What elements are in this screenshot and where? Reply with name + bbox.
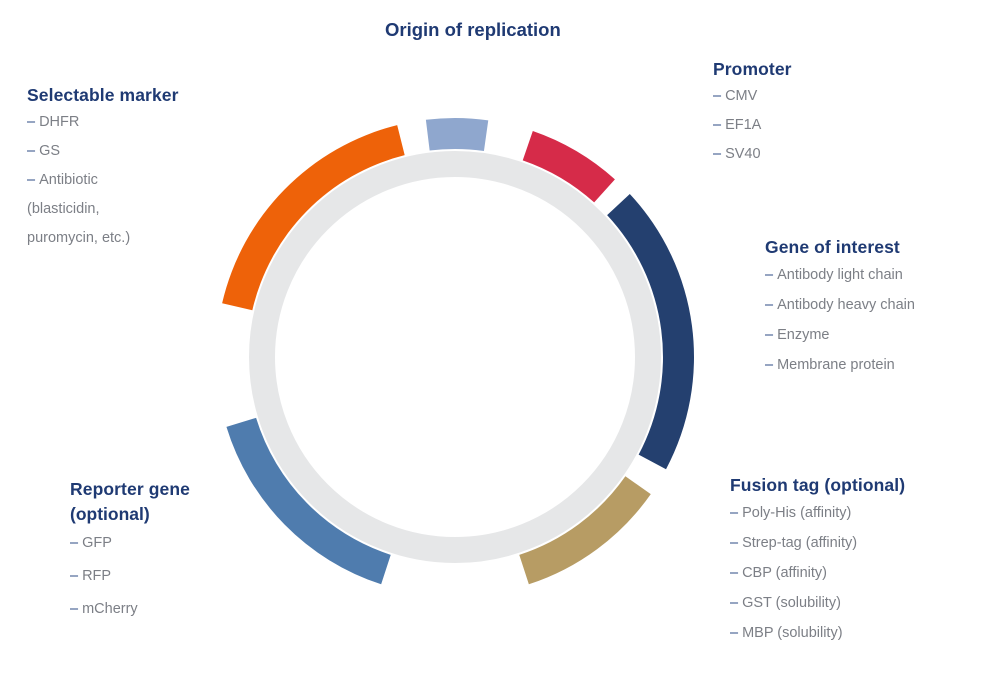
list-item-label: MBP (solubility) xyxy=(742,625,842,641)
gene-of-interest-heading: Gene of interest xyxy=(765,235,915,260)
reporter-gene-block: Reporter gene (optional) –GFP –RFP –mChe… xyxy=(70,477,190,626)
dash-icon: – xyxy=(27,172,35,188)
list-item: –Antibody light chain xyxy=(765,260,915,290)
list-item-label: (blasticidin, xyxy=(27,201,100,217)
dash-icon: – xyxy=(765,357,773,373)
dash-icon: – xyxy=(27,143,35,159)
list-item: –Poly-His (affinity) xyxy=(730,498,905,528)
dash-icon: – xyxy=(730,595,738,611)
list-item: –GFP xyxy=(70,527,190,560)
list-item: –Antibody heavy chain xyxy=(765,290,915,320)
dash-icon: – xyxy=(730,565,738,581)
dash-icon: – xyxy=(730,505,738,521)
list-item-label: Antibiotic xyxy=(39,172,98,188)
dash-icon: – xyxy=(713,117,721,133)
list-item: –CMV xyxy=(713,82,792,111)
list-item: –EF1A xyxy=(713,111,792,140)
list-item-label: EF1A xyxy=(725,117,761,133)
dash-icon: – xyxy=(765,327,773,343)
list-item: –Strep-tag (affinity) xyxy=(730,528,905,558)
list-item: –Membrane protein xyxy=(765,350,915,380)
list-item-label: Antibody heavy chain xyxy=(777,297,915,313)
dash-icon: – xyxy=(765,297,773,313)
list-item-label: Poly-His (affinity) xyxy=(742,505,851,521)
gene-of-interest-block: Gene of interest –Antibody light chain –… xyxy=(765,235,915,380)
list-item-label: SV40 xyxy=(725,146,760,162)
fusion-tag-heading-main: Fusion tag xyxy=(730,475,819,495)
list-item-label: DHFR xyxy=(39,114,79,130)
fusion-tag-heading-optional: (optional) xyxy=(819,475,905,495)
list-item: –SV40 xyxy=(713,140,792,169)
origin-of-replication-label: Origin of replication xyxy=(385,19,561,41)
diagram-card: Origin of replication Selectable marker … xyxy=(0,0,990,681)
list-item-label: mCherry xyxy=(82,601,138,617)
dash-icon: – xyxy=(765,267,773,283)
list-item-continuation: (blasticidin, xyxy=(27,195,179,224)
plasmid-segment-ori[interactable] xyxy=(426,118,488,151)
list-item: –DHFR xyxy=(27,108,179,137)
dash-icon: – xyxy=(713,146,721,162)
list-item-label: Enzyme xyxy=(777,327,829,343)
list-item-label: CMV xyxy=(725,88,757,104)
list-item: –Antibiotic xyxy=(27,166,179,195)
reporter-gene-heading: Reporter gene xyxy=(70,477,190,502)
dash-icon: – xyxy=(70,601,78,617)
plasmid-diagram-page: Origin of replication Selectable marker … xyxy=(0,0,990,681)
dash-icon: – xyxy=(730,535,738,551)
selectable-marker-heading: Selectable marker xyxy=(27,83,179,108)
fusion-tag-heading: Fusion tag (optional) xyxy=(730,473,905,498)
list-item-label: GS xyxy=(39,143,60,159)
list-item-label: puromycin, etc.) xyxy=(27,230,130,246)
promoter-block: Promoter –CMV –EF1A –SV40 xyxy=(713,57,792,169)
list-item: –RFP xyxy=(70,560,190,593)
promoter-list: –CMV –EF1A –SV40 xyxy=(713,82,792,169)
list-item-label: Strep-tag (affinity) xyxy=(742,535,857,551)
list-item-label: GFP xyxy=(82,535,112,551)
reporter-gene-heading-optional: (optional) xyxy=(70,502,190,527)
list-item: –CBP (affinity) xyxy=(730,558,905,588)
gene-of-interest-list: –Antibody light chain –Antibody heavy ch… xyxy=(765,260,915,380)
dash-icon: – xyxy=(730,625,738,641)
dash-icon: – xyxy=(713,88,721,104)
list-item-label: GST (solubility) xyxy=(742,595,841,611)
list-item-label: RFP xyxy=(82,568,111,584)
list-item: –MBP (solubility) xyxy=(730,618,905,648)
list-item: –GS xyxy=(27,137,179,166)
plasmid-backbone-ring xyxy=(262,164,648,550)
list-item-label: Antibody light chain xyxy=(777,267,903,283)
fusion-tag-block: Fusion tag (optional) –Poly-His (affinit… xyxy=(730,473,905,648)
promoter-heading: Promoter xyxy=(713,57,792,82)
list-item-label: CBP (affinity) xyxy=(742,565,827,581)
fusion-tag-list: –Poly-His (affinity) –Strep-tag (affinit… xyxy=(730,498,905,648)
dash-icon: – xyxy=(70,535,78,551)
list-item: –GST (solubility) xyxy=(730,588,905,618)
list-item: –Enzyme xyxy=(765,320,915,350)
list-item-continuation: puromycin, etc.) xyxy=(27,224,179,253)
list-item-label: Membrane protein xyxy=(777,357,895,373)
list-item: –mCherry xyxy=(70,593,190,626)
dash-icon: – xyxy=(70,568,78,584)
reporter-gene-list: –GFP –RFP –mCherry xyxy=(70,527,190,626)
selectable-marker-block: Selectable marker –DHFR –GS –Antibiotic … xyxy=(27,83,179,253)
selectable-marker-list: –DHFR –GS –Antibiotic (blasticidin, puro… xyxy=(27,108,179,253)
dash-icon: – xyxy=(27,114,35,130)
